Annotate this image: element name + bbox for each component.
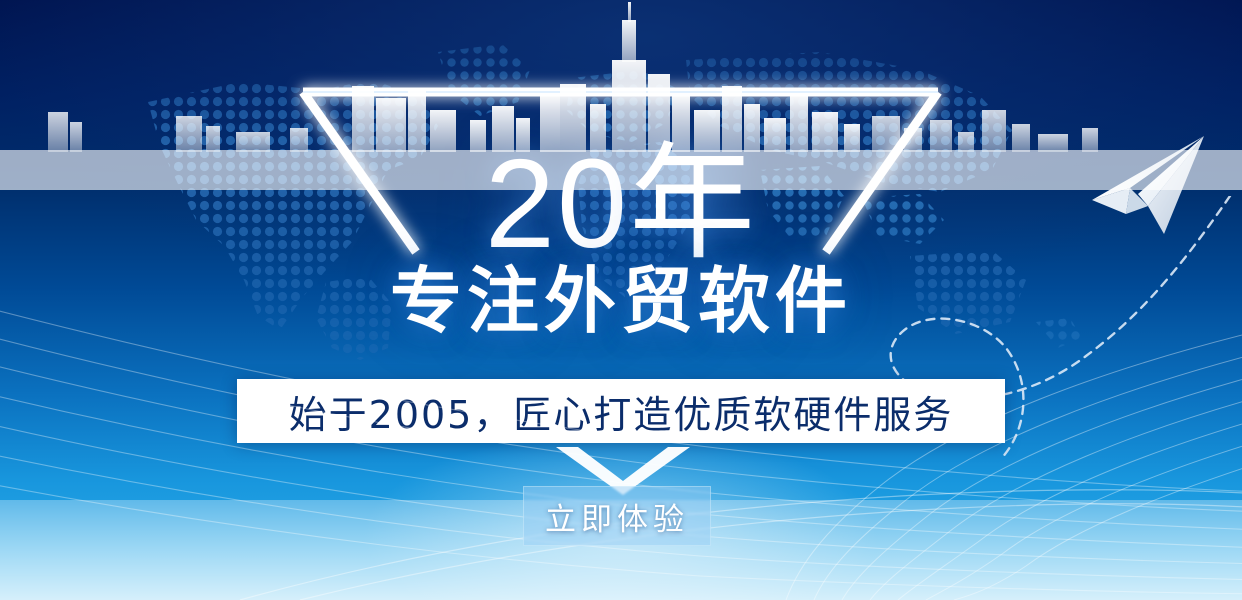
subheadline: 专注外贸软件: [0, 263, 1242, 341]
light-streaks: [0, 300, 1242, 600]
page-title: 20年: [0, 140, 1242, 269]
try-now-button[interactable]: 立即体验: [523, 486, 711, 546]
headline-unit: 年: [629, 130, 757, 277]
tagline-bar: 始于2005，匠心打造优质软硬件服务: [237, 379, 1005, 443]
tagline-text: 始于2005，匠心打造优质软硬件服务: [289, 384, 954, 439]
promo-banner: 20年 专注外贸软件: [0, 0, 1242, 600]
headline-block: 20年 专注外贸软件: [0, 140, 1242, 340]
cta-label: 立即体验: [545, 494, 689, 539]
headline-number: 20: [485, 133, 629, 274]
